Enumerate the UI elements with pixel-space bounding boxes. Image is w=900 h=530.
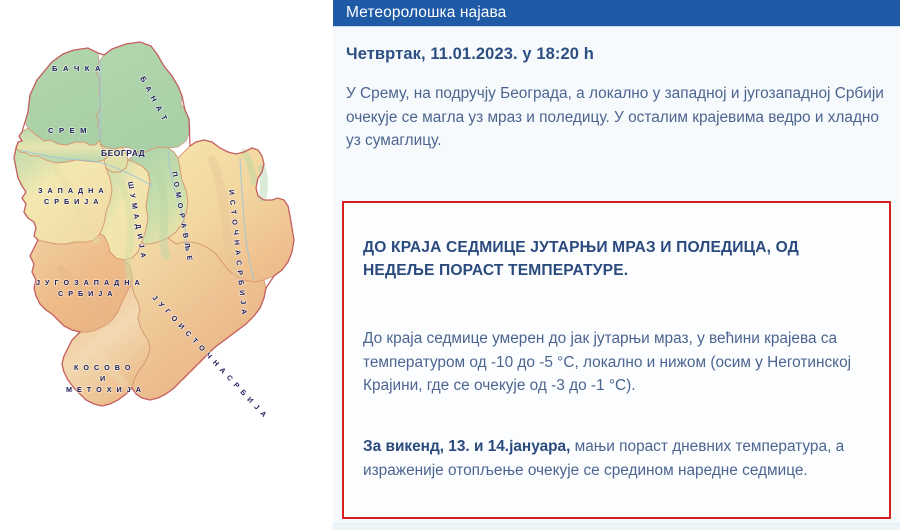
- warning-box: ДО КРАЈА СЕДМИЦЕ ЈУТАРЊИ МРАЗ И ПОЛЕДИЦА…: [342, 201, 891, 519]
- map-label-metohija: М Е Т О Х И Ј А: [66, 385, 142, 394]
- warning-paragraph-1: До краја седмице умерен до јак јутарњи м…: [363, 327, 863, 398]
- map-label-zapadna-srbija-line1: З А П А Д Н А: [38, 186, 105, 195]
- serbia-region-map: Б А Ч К А Б А Н А Т С Р Е М БЕОГРАД З А …: [0, 0, 333, 530]
- map-label-jugozapadna-srbija-line1: Ј У Г О З А П А Д Н А: [36, 278, 141, 287]
- map-label-beograd: БЕОГРАД: [101, 148, 145, 158]
- issue-datetime: Четвртак, 11.01.2023. у 18:20 h: [346, 45, 594, 64]
- panel-body: Четвртак, 11.01.2023. у 18:20 h У Срему,…: [333, 27, 900, 530]
- panel-footer-strip: [333, 523, 900, 530]
- map-label-zapadna-srbija-line2: С Р Б И Ј А: [44, 197, 100, 206]
- warning-headline: ДО КРАЈА СЕДМИЦЕ ЈУТАРЊИ МРАЗ И ПОЛЕДИЦА…: [363, 237, 833, 282]
- map-label-kosovo: К О С О В О: [74, 363, 132, 372]
- intro-paragraph: У Срему, на подручју Београда, а локално…: [346, 82, 886, 153]
- panel-title: Метеоролошка најава: [346, 4, 506, 22]
- panel-titlebar: Метеоролошка најава: [333, 0, 900, 27]
- map-label-srem: С Р Е М: [48, 126, 88, 135]
- map-label-backa: Б А Ч К А: [52, 64, 102, 73]
- map-label-kosovo-i: И: [100, 374, 107, 383]
- warning-paragraph-2: За викенд, 13. и 14.јануара, мањи пораст…: [363, 435, 868, 482]
- map-label-jugozapadna-srbija-line2: С Р Б И Ј А: [58, 289, 114, 298]
- warning-weekend-emphasis: За викенд, 13. и 14.јануара,: [363, 438, 570, 455]
- region-banat: [96, 42, 190, 152]
- weather-announcement-page: Б А Ч К А Б А Н А Т С Р Е М БЕОГРАД З А …: [0, 0, 900, 530]
- serbia-map-svg: Б А Ч К А Б А Н А Т С Р Е М БЕОГРАД З А …: [0, 0, 333, 530]
- announcement-panel: Метеоролошка најава Четвртак, 11.01.2023…: [333, 0, 900, 530]
